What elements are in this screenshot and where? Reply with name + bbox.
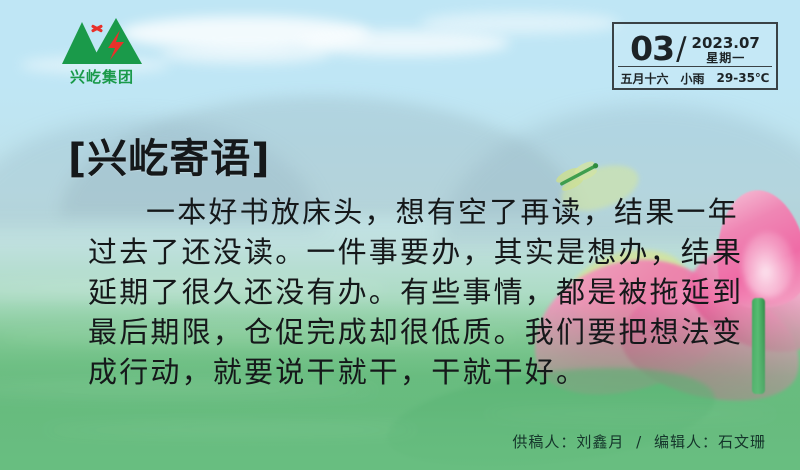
body-line: 最后期限，仓促完成却很低质。我们要把想法变 xyxy=(88,312,718,352)
lunar-date: 五月十六 xyxy=(621,70,669,87)
date-day-number: 03 xyxy=(630,32,674,66)
cloud-icon xyxy=(120,16,370,50)
contributor-credit: 供稿人：刘鑫月 xyxy=(512,433,624,451)
poster-canvas: 兴屹集团 03 / 2023.07 星期一 五月十六 小雨 29-35℃ [兴屹… xyxy=(0,0,800,470)
editor-credit: 编辑人：石文珊 xyxy=(654,433,766,451)
dragonfly-icon xyxy=(556,158,602,192)
cloud-icon xyxy=(420,12,620,34)
page-title: [兴屹寄语] xyxy=(68,126,271,184)
date-slash: / xyxy=(676,32,686,66)
mountain-lightning-logo-icon xyxy=(58,18,146,68)
date-card: 03 / 2023.07 星期一 五月十六 小雨 29-35℃ xyxy=(612,22,778,90)
credits-footer: 供稿人：刘鑫月 / 编辑人：石文珊 xyxy=(512,431,766,452)
lotus-bud-highlight xyxy=(742,232,794,298)
credit-separator: / xyxy=(636,433,642,451)
body-line: 过去了还没读。一件事要办，其实是想办，结果 xyxy=(88,232,718,272)
date-card-bottom-row: 五月十六 小雨 29-35℃ xyxy=(614,67,776,89)
cloud-icon xyxy=(300,30,510,56)
date-weekday: 星期一 xyxy=(692,51,760,65)
date-year-month-block: 2023.07 星期一 xyxy=(692,35,760,66)
company-logo: 兴屹集团 xyxy=(58,18,146,90)
logo-company-name: 兴屹集团 xyxy=(58,66,146,87)
body-line: 延期了很久还没有办。有些事情，都是被拖延到 xyxy=(88,272,718,312)
temperature-range: 29-35℃ xyxy=(717,71,770,85)
cloud-icon xyxy=(160,44,330,64)
date-card-top-row: 03 / 2023.07 星期一 xyxy=(614,24,776,66)
date-year-month: 2023.07 xyxy=(692,35,760,51)
body-line: 一本好书放床头，想有空了再读，结果一年 xyxy=(88,192,718,232)
body-line: 成行动，就要说干就干，干就干好。 xyxy=(88,352,718,392)
weather-condition: 小雨 xyxy=(681,70,705,87)
body-paragraph: 一本好书放床头，想有空了再读，结果一年 过去了还没读。一件事要办，其实是想办，结… xyxy=(88,192,718,392)
